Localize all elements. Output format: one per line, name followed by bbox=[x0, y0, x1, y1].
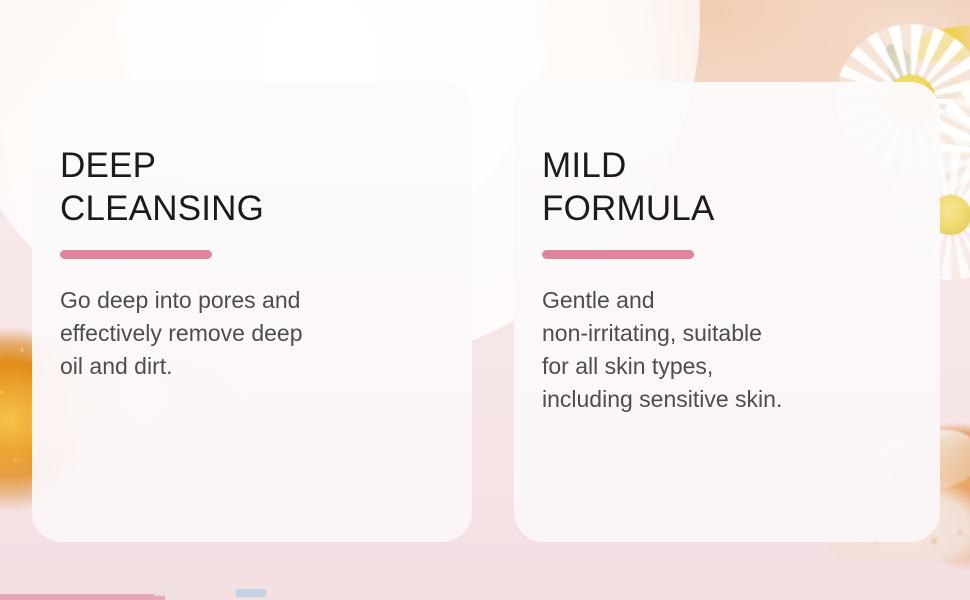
card-accent-divider bbox=[60, 250, 212, 259]
feature-card-deep-cleansing: DEEP CLEANSING Go deep into pores and ef… bbox=[32, 82, 472, 542]
feature-card-mild-formula: MILD FORMULA Gentle and non-irritating, … bbox=[514, 82, 940, 542]
card-title: DEEP CLEANSING bbox=[60, 144, 438, 230]
card-accent-divider bbox=[542, 250, 694, 259]
feature-cards-container: DEEP CLEANSING Go deep into pores and ef… bbox=[0, 0, 970, 600]
bottom-edge-artifact bbox=[154, 587, 170, 596]
card-description: Go deep into pores and effectively remov… bbox=[60, 284, 438, 383]
bottom-accent-bar bbox=[0, 594, 165, 600]
card-title: MILD FORMULA bbox=[542, 144, 906, 230]
card-description: Gentle and non-irritating, suitable for … bbox=[542, 284, 906, 416]
bottom-edge-artifact bbox=[236, 589, 266, 597]
